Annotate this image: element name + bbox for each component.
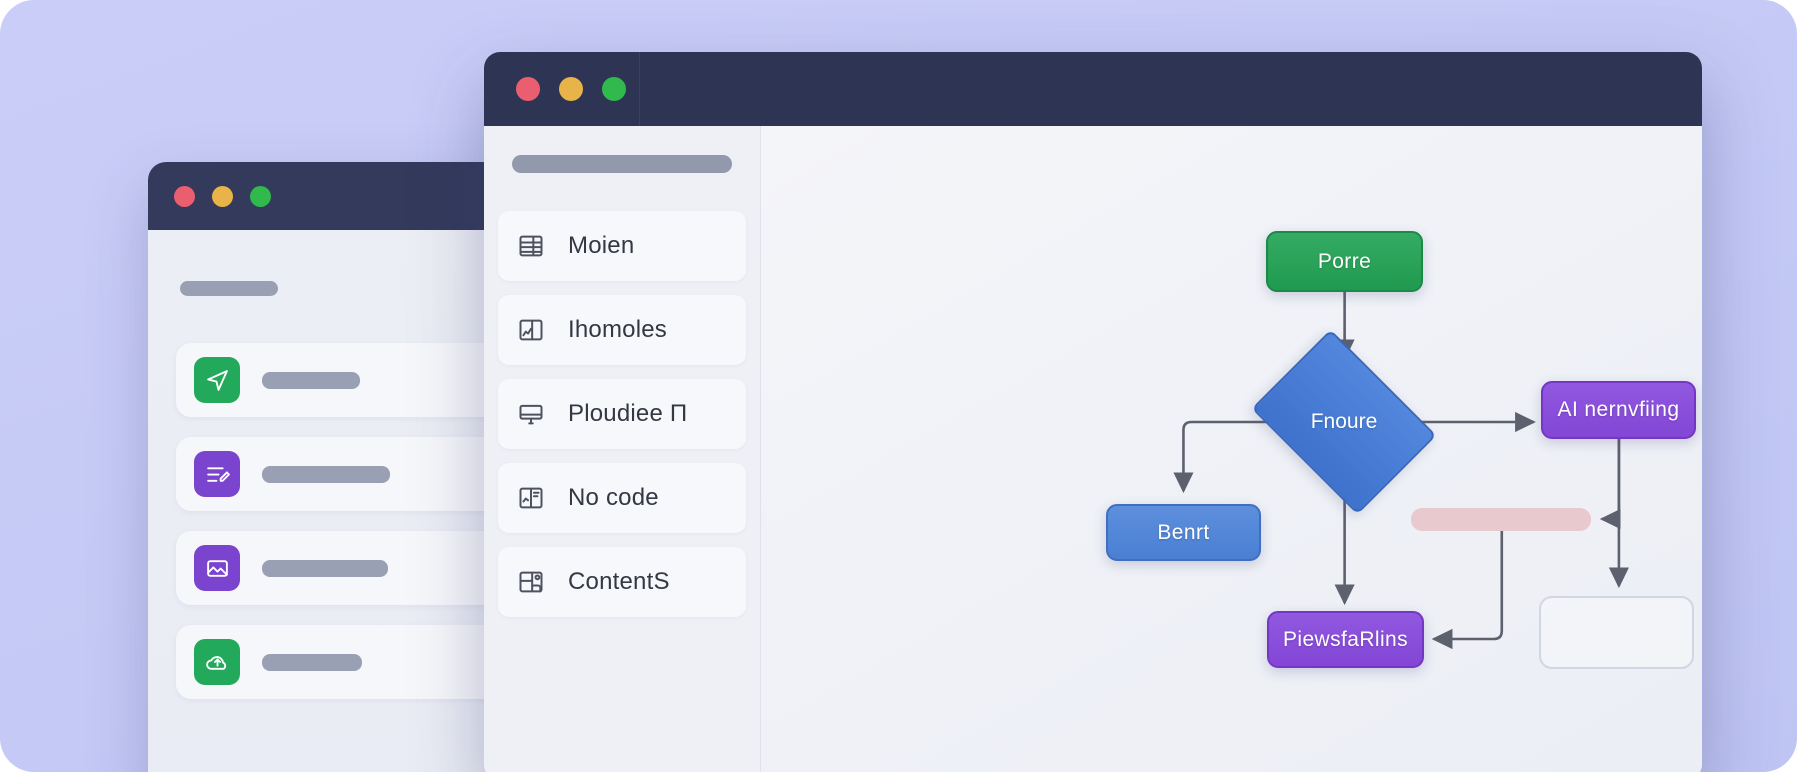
sidebar-item-label: Ihomoles bbox=[568, 316, 667, 344]
sidebar-item-no-code[interactable]: No code bbox=[498, 463, 746, 533]
list-item-placeholder bbox=[262, 560, 388, 577]
flow-node-parse[interactable]: Porre bbox=[1266, 231, 1423, 292]
screenshot-stage: Moien Ihomoles Ploudiee Π bbox=[0, 0, 1797, 772]
chart-frame-icon bbox=[514, 313, 548, 347]
sidebar-item-label: Ploudiee Π bbox=[568, 400, 687, 428]
sidebar-item-label: ContentS bbox=[568, 568, 670, 596]
progress-pill-bar[interactable] bbox=[1411, 508, 1591, 531]
cloud-upload-icon bbox=[194, 639, 240, 685]
sidebar-item-label: No code bbox=[568, 484, 659, 512]
sidebar-header-placeholder bbox=[512, 155, 732, 173]
list-edit-icon bbox=[194, 451, 240, 497]
flowchart-canvas[interactable]: Porre Fnoure AI nernvfiing Benrt Piewsfa… bbox=[761, 126, 1702, 772]
flow-node-label: AI nernvfiing bbox=[1558, 398, 1680, 422]
sidebar: Moien Ihomoles Ploudiee Π bbox=[484, 126, 761, 772]
flow-node-ai-rewriting[interactable]: AI nernvfiing bbox=[1541, 381, 1696, 439]
close-button[interactable] bbox=[174, 186, 195, 207]
maximize-button[interactable] bbox=[602, 77, 626, 101]
flow-node-decision[interactable]: Fnoure bbox=[1269, 366, 1419, 478]
back-header-placeholder bbox=[180, 281, 278, 296]
list-item-placeholder bbox=[262, 654, 362, 671]
minimize-button[interactable] bbox=[212, 186, 233, 207]
flow-node-bert[interactable]: Benrt bbox=[1106, 504, 1261, 561]
send-icon bbox=[194, 357, 240, 403]
flow-node-label: Fnoure bbox=[1311, 410, 1378, 434]
flowchart-connectors bbox=[761, 126, 1702, 772]
close-button[interactable] bbox=[516, 77, 540, 101]
sidebar-item-ihomoles[interactable]: Ihomoles bbox=[498, 295, 746, 365]
monitor-icon bbox=[514, 397, 548, 431]
list-item-placeholder bbox=[262, 372, 360, 389]
front-window-titlebar[interactable] bbox=[484, 52, 1702, 126]
flow-node-label: Benrt bbox=[1157, 521, 1209, 545]
flow-node-presentations[interactable]: PiewsfaRlins bbox=[1267, 611, 1424, 668]
sidebar-item-moien[interactable]: Moien bbox=[498, 211, 746, 281]
flow-node-label: PiewsfaRlins bbox=[1283, 628, 1408, 652]
foreground-window[interactable]: Moien Ihomoles Ploudiee Π bbox=[484, 52, 1702, 772]
front-window-body: Moien Ihomoles Ploudiee Π bbox=[484, 126, 1702, 772]
empty-node-placeholder[interactable] bbox=[1539, 596, 1694, 669]
maximize-button[interactable] bbox=[250, 186, 271, 207]
layout-panels-icon bbox=[514, 565, 548, 599]
list-item-placeholder bbox=[262, 466, 390, 483]
flow-node-label: Porre bbox=[1318, 250, 1371, 274]
titlebar-divider bbox=[639, 52, 640, 126]
table-grid-icon bbox=[514, 229, 548, 263]
sidebar-item-contents[interactable]: ContentS bbox=[498, 547, 746, 617]
sidebar-item-label: Moien bbox=[568, 232, 634, 260]
minimize-button[interactable] bbox=[559, 77, 583, 101]
sidebar-item-ploudiee[interactable]: Ploudiee Π bbox=[498, 379, 746, 449]
image-edit-icon bbox=[194, 545, 240, 591]
layout-split-icon bbox=[514, 481, 548, 515]
